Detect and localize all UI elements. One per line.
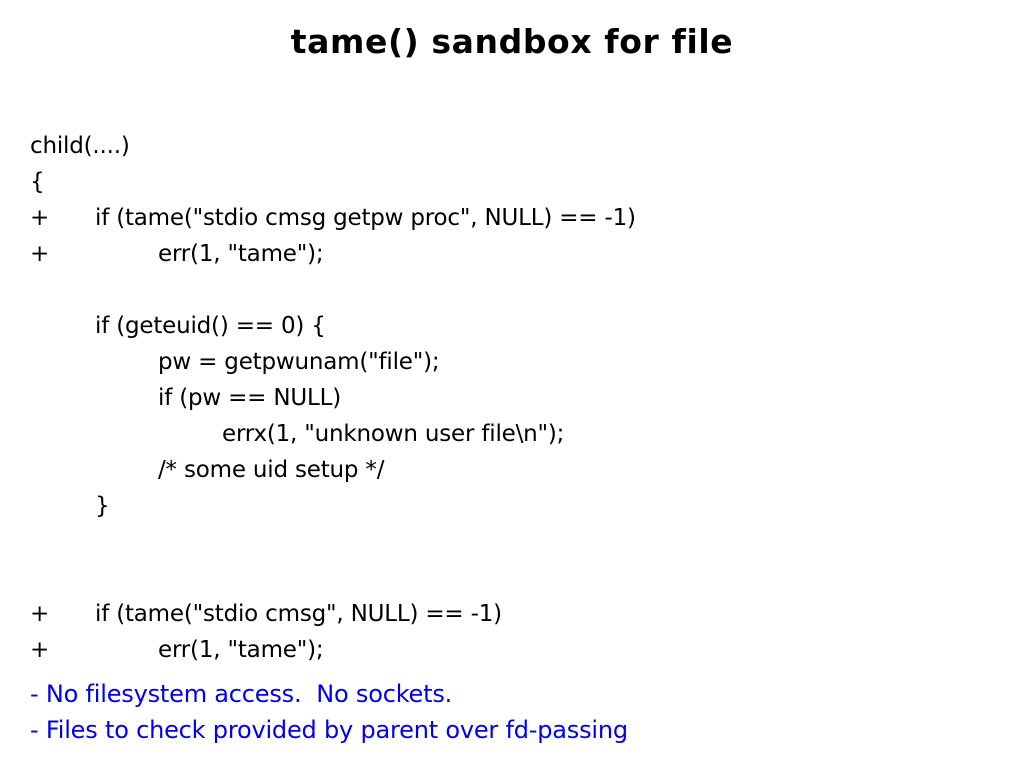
notes-list: - No filesystem access. No sockets.- Fil… bbox=[30, 676, 990, 748]
code-line-text: } bbox=[95, 493, 109, 519]
line-child: child(....) bbox=[30, 128, 990, 164]
line-geteuid: if (geteuid() == 0) { bbox=[30, 308, 990, 344]
code-line-text: child(....) bbox=[30, 133, 130, 159]
code-line-text: /* some uid setup */ bbox=[158, 457, 384, 483]
line-getpwunam: pw = getpwunam("file"); bbox=[30, 344, 990, 380]
code-line-text: pw = getpwunam("file"); bbox=[158, 349, 439, 375]
line-open-brace: { bbox=[30, 164, 990, 200]
note-line-text: - No filesystem access. No sockets. bbox=[30, 680, 452, 708]
code-line-text: { bbox=[30, 169, 44, 195]
slide-canvas: tame() sandbox for file child(....){+if … bbox=[0, 0, 1024, 768]
line-if-pw-null: if (pw == NULL) bbox=[30, 380, 990, 416]
diff-plus-marker: + bbox=[30, 200, 95, 236]
line-err-2: +err(1, "tame"); bbox=[30, 632, 990, 668]
code-line-text: if (pw == NULL) bbox=[158, 385, 341, 411]
line-tame-1: +if (tame("stdio cmsg getpw proc", NULL)… bbox=[30, 200, 990, 236]
slide-title: tame() sandbox for file bbox=[0, 22, 1024, 62]
code-line-text: if (geteuid() == 0) { bbox=[95, 313, 326, 339]
code-line-text: if (tame("stdio cmsg getpw proc", NULL) … bbox=[95, 200, 636, 236]
line-blank-1 bbox=[30, 272, 990, 308]
line-comment-uid: /* some uid setup */ bbox=[30, 452, 990, 488]
code-listing: child(....){+if (tame("stdio cmsg getpw … bbox=[30, 128, 990, 668]
line-tame-2: +if (tame("stdio cmsg", NULL) == -1) bbox=[30, 596, 990, 632]
line-blank-3 bbox=[30, 560, 990, 596]
code-line-text: errx(1, "unknown user file\n"); bbox=[222, 421, 564, 447]
code-line-text: err(1, "tame"); bbox=[95, 632, 323, 668]
line-errx: errx(1, "unknown user file\n"); bbox=[30, 416, 990, 452]
diff-plus-marker: + bbox=[30, 632, 95, 668]
note-line-text: - Files to check provided by parent over… bbox=[30, 716, 628, 744]
diff-plus-marker: + bbox=[30, 236, 95, 272]
diff-plus-marker: + bbox=[30, 596, 95, 632]
note-fd-pass: - Files to check provided by parent over… bbox=[30, 712, 990, 748]
note-no-fs: - No filesystem access. No sockets. bbox=[30, 676, 990, 712]
line-err-1: +err(1, "tame"); bbox=[30, 236, 990, 272]
code-line-text: err(1, "tame"); bbox=[95, 236, 323, 272]
code-line-text: if (tame("stdio cmsg", NULL) == -1) bbox=[95, 596, 502, 632]
line-blank-2 bbox=[30, 524, 990, 560]
line-close-brace: } bbox=[30, 488, 990, 524]
